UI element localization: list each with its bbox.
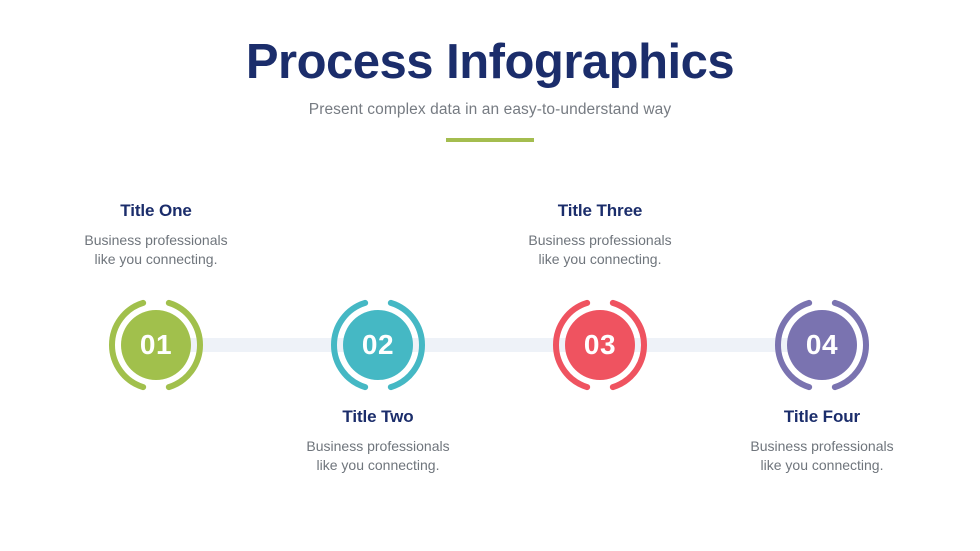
step-ring-svg [106,295,206,395]
step-text-block: Title TwoBusiness professionals like you… [267,408,489,474]
slide-header: Process Infographics Present complex dat… [0,38,980,142]
step-text-block: Title OneBusiness professionals like you… [45,202,267,268]
page-title: Process Infographics [0,38,980,87]
step-description: Business professionals like you connecti… [489,231,711,269]
infographic-slide: Process Infographics Present complex dat… [0,0,980,551]
process-step-01[interactable]: Title OneBusiness professionals like you… [45,180,267,510]
step-ring-svg [550,295,650,395]
step-description: Business professionals like you connecti… [267,437,489,475]
step-disc [787,310,857,380]
page-subtitle: Present complex data in an easy-to-under… [0,101,980,120]
step-ring-svg [328,295,428,395]
step-description: Business professionals like you connecti… [711,437,933,475]
step-disc [121,310,191,380]
step-title: Title Four [711,408,933,427]
step-title: Title Three [489,202,711,221]
process-step-02[interactable]: 02Title TwoBusiness professionals like y… [267,180,489,510]
step-circle-01[interactable]: 01 [106,295,206,395]
process-step-03[interactable]: Title ThreeBusiness professionals like y… [489,180,711,510]
step-circle-04[interactable]: 04 [772,295,872,395]
step-disc [343,310,413,380]
process-diagram: Title OneBusiness professionals like you… [0,180,980,510]
step-ring-svg [772,295,872,395]
step-disc [565,310,635,380]
step-text-block: Title FourBusiness professionals like yo… [711,408,933,474]
step-circle-02[interactable]: 02 [328,295,428,395]
accent-underline [446,138,534,142]
process-step-04[interactable]: 04Title FourBusiness professionals like … [711,180,933,510]
step-title: Title Two [267,408,489,427]
step-title: Title One [45,202,267,221]
step-circle-03[interactable]: 03 [550,295,650,395]
step-description: Business professionals like you connecti… [45,231,267,269]
step-text-block: Title ThreeBusiness professionals like y… [489,202,711,268]
